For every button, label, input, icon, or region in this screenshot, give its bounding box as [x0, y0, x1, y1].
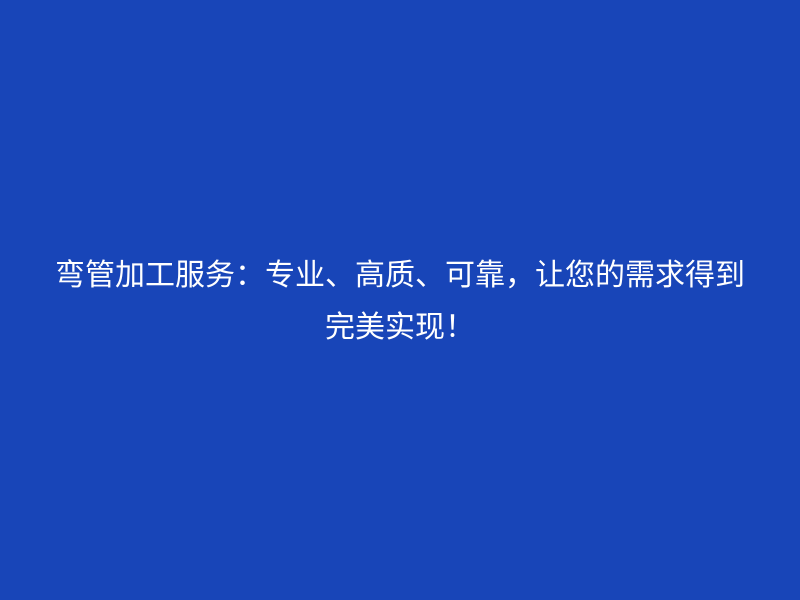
banner-container: 弯管加工服务：专业、高质、可靠，让您的需求得到完美实现！	[0, 0, 800, 600]
banner-headline: 弯管加工服务：专业、高质、可靠，让您的需求得到完美实现！	[50, 250, 750, 354]
banner-content: 弯管加工服务：专业、高质、可靠，让您的需求得到完美实现！	[50, 250, 750, 354]
